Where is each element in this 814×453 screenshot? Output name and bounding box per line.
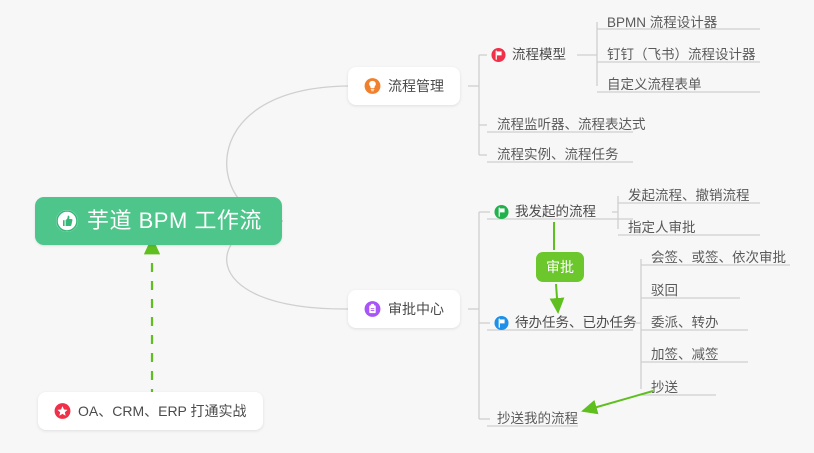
node-integration-practice[interactable]: OA、CRM、ERP 打通实战 — [38, 392, 263, 430]
annotation-approval-badge[interactable]: 审批 — [536, 252, 584, 282]
node-process-model[interactable]: 流程模型 — [489, 42, 570, 68]
mindmap-canvas: 芋道 BPM 工作流 流程管理 流程模型 BPMN 流程设计器 钉钉（飞书 — [0, 0, 814, 453]
annotation-approval-badge-label: 审批 — [546, 260, 574, 274]
node-integration-practice-label: OA、CRM、ERP 打通实战 — [78, 404, 247, 418]
node-approval-center[interactable]: 审批中心 — [348, 290, 460, 328]
node-delegate-transfer-label: 委派、转办 — [651, 316, 719, 330]
node-assignee-approval[interactable]: 指定人审批 — [620, 215, 702, 241]
node-todo-done-tasks-label: 待办任务、已办任务 — [515, 316, 637, 330]
node-process-management[interactable]: 流程管理 — [348, 67, 460, 105]
clipboard-purple-icon — [364, 301, 381, 318]
lightbulb-icon — [364, 78, 381, 95]
node-multi-sign-label: 会签、或签、依次审批 — [651, 251, 786, 265]
node-reject[interactable]: 驳回 — [643, 278, 684, 304]
node-dingtalk-designer[interactable]: 钉钉（飞书）流程设计器 — [599, 42, 762, 68]
node-reject-label: 驳回 — [651, 284, 678, 298]
node-process-listener-label: 流程监听器、流程表达式 — [497, 118, 646, 132]
node-start-cancel[interactable]: 发起流程、撤销流程 — [620, 183, 756, 209]
root-node-label: 芋道 BPM 工作流 — [87, 210, 262, 232]
flag-red-icon — [491, 48, 506, 63]
node-start-cancel-label: 发起流程、撤销流程 — [628, 189, 750, 203]
node-add-remove-sign-label: 加签、减签 — [651, 348, 719, 362]
node-bpmn-designer-label: BPMN 流程设计器 — [607, 16, 717, 30]
node-todo-done-tasks[interactable]: 待办任务、已办任务 — [492, 310, 641, 336]
node-my-initiated[interactable]: 我发起的流程 — [492, 199, 600, 225]
star-red-icon — [54, 403, 71, 420]
flag-blue-icon — [494, 316, 509, 331]
node-process-instance-label: 流程实例、流程任务 — [497, 148, 619, 162]
node-cc-label: 抄送 — [651, 381, 678, 395]
node-bpmn-designer[interactable]: BPMN 流程设计器 — [599, 10, 723, 36]
thumbs-up-icon — [55, 209, 79, 233]
node-custom-form-label: 自定义流程表单 — [607, 78, 702, 92]
node-dingtalk-designer-label: 钉钉（飞书）流程设计器 — [607, 48, 756, 62]
node-process-model-label: 流程模型 — [512, 48, 566, 62]
node-assignee-approval-label: 指定人审批 — [628, 221, 696, 235]
node-approval-center-label: 审批中心 — [388, 302, 444, 316]
root-node[interactable]: 芋道 BPM 工作流 — [35, 197, 282, 245]
node-add-remove-sign[interactable]: 加签、减签 — [643, 342, 725, 368]
node-delegate-transfer[interactable]: 委派、转办 — [643, 310, 725, 336]
node-multi-sign[interactable]: 会签、或签、依次审批 — [643, 245, 792, 271]
node-cc-to-me[interactable]: 抄送我的流程 — [489, 406, 584, 432]
node-cc[interactable]: 抄送 — [643, 375, 684, 401]
node-process-management-label: 流程管理 — [388, 79, 444, 93]
node-custom-form[interactable]: 自定义流程表单 — [599, 72, 708, 98]
node-cc-to-me-label: 抄送我的流程 — [497, 412, 578, 426]
node-process-instance[interactable]: 流程实例、流程任务 — [489, 142, 625, 168]
arrow-badge-to-todo — [556, 284, 558, 312]
flag-green-icon — [494, 205, 509, 220]
node-my-initiated-label: 我发起的流程 — [515, 205, 596, 219]
node-process-listener[interactable]: 流程监听器、流程表达式 — [489, 112, 652, 138]
